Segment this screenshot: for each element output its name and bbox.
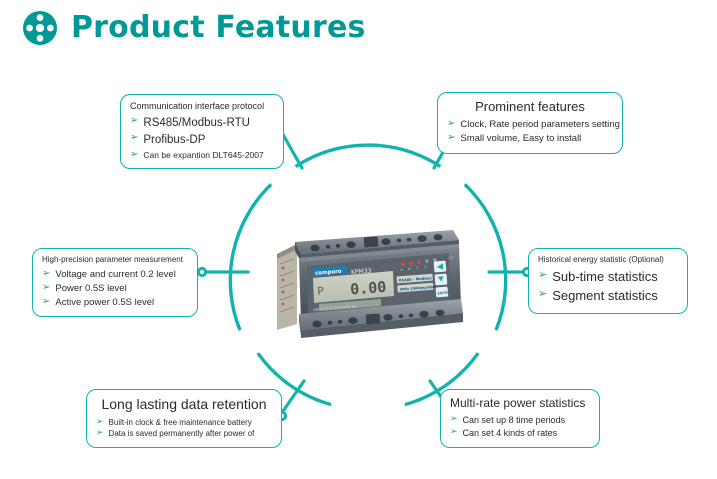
arrow-bullet-icon: ➢ — [96, 429, 104, 438]
arrow-bullet-icon: ➢ — [42, 269, 50, 279]
list-item: ➢ Can set 4 kinds of rates — [450, 427, 590, 440]
list-item-label: Sub-time statistics — [552, 268, 657, 287]
list-item-label: RS485/Modbus-RTU — [143, 115, 250, 132]
list-item-label: Segment statistics — [552, 287, 658, 306]
callout-title: Multi-rate power statistics — [450, 396, 590, 411]
arrow-bullet-icon: ➢ — [130, 116, 138, 126]
callout-communication-interface-protocol[interactable]: Communication interface protocol ➢ RS485… — [120, 94, 284, 169]
page-title: Product Features — [71, 10, 366, 46]
arrow-bullet-icon: ➢ — [538, 269, 547, 280]
list-item-label: Can set up 8 time periods — [463, 414, 566, 427]
callout-list: ➢ RS485/Modbus-RTU ➢ Profibus-DP ➢ Can b… — [130, 115, 274, 161]
list-item-label: Active power 0.5S level — [55, 296, 154, 310]
list-item: ➢ Can be expantion DLT645-2007 — [130, 149, 274, 161]
callout-title: High-precision parameter measurement — [42, 255, 188, 265]
page-header: Product Features — [22, 10, 366, 46]
node-precision — [198, 268, 205, 275]
arrow-bullet-icon: ➢ — [450, 415, 458, 424]
list-item-label: Clock, Rate period parameters setting — [460, 118, 619, 132]
list-item: ➢ Clock, Rate period parameters setting — [447, 118, 613, 132]
list-item-label: Profibus-DP — [143, 132, 205, 149]
svg-text:C: C — [416, 266, 418, 270]
arrow-bullet-icon: ➢ — [130, 133, 138, 143]
callout-prominent-features[interactable]: Prominent features ➢ Clock, Rate period … — [437, 92, 623, 154]
callout-list: ➢ Can set up 8 time periods ➢ Can set 4 … — [450, 414, 590, 440]
callout-list: ➢ Voltage and current 0.2 level ➢ Power … — [42, 268, 188, 309]
callout-long-lasting-data-retention[interactable]: Long lasting data retention ➢ Built-in c… — [86, 389, 282, 448]
svg-text:1/0: 1/0 — [448, 256, 454, 260]
list-item-label: Can be expantion DLT645-2007 — [143, 149, 263, 161]
callout-multi-rate-power-statistics[interactable]: Multi-rate power statistics ➢ Can set up… — [440, 389, 600, 448]
list-item: ➢ Data is saved permanently after power … — [96, 428, 272, 440]
arrow-bullet-icon: ➢ — [130, 150, 138, 160]
arrow-bullet-icon: ➢ — [447, 133, 455, 143]
callout-title: Prominent features — [447, 99, 613, 115]
list-item: ➢ Profibus-DP — [130, 132, 274, 149]
svg-text:P: P — [317, 285, 325, 298]
callout-list: ➢ Clock, Rate period parameters setting … — [447, 118, 613, 146]
list-item-label: Built-in clock & free maintenance batter… — [109, 417, 252, 429]
list-item-label: Voltage and current 0.2 level — [55, 268, 175, 282]
svg-text:B: B — [408, 267, 410, 271]
callout-historical-energy-statistic[interactable]: Historical energy statistic (Optional) ➢… — [528, 248, 688, 314]
list-item-label: Small volume, Easy to install — [460, 132, 581, 146]
svg-text:0.00: 0.00 — [350, 278, 387, 299]
callout-title: Historical energy statistic (Optional) — [538, 255, 678, 265]
arrow-bullet-icon: ➢ — [447, 119, 455, 129]
callout-title: Long lasting data retention — [96, 396, 272, 414]
arrow-bullet-icon: ➢ — [450, 428, 458, 437]
list-item: ➢ RS485/Modbus-RTU — [130, 115, 274, 132]
list-item-label: Data is saved permanently after power of — [109, 428, 255, 440]
list-item: ➢ Sub-time statistics — [538, 268, 678, 287]
callout-high-precision-parameter-measurement[interactable]: High-precision parameter measurement ➢ V… — [32, 248, 198, 317]
list-item: ➢ Small volume, Easy to install — [447, 132, 613, 146]
list-item-label: Power 0.5S level — [55, 282, 126, 296]
list-item: ➢ Segment statistics — [538, 287, 678, 306]
product-image-energy-meter: comporo KPM33 P 0.00 GB/T17215.321-2008 … — [271, 218, 466, 338]
arrow-bullet-icon: ➢ — [42, 283, 50, 293]
arrow-bullet-icon: ➢ — [42, 297, 50, 307]
callout-list: ➢ Built-in clock & free maintenance batt… — [96, 417, 272, 440]
list-item-label: Can set 4 kinds of rates — [463, 427, 558, 440]
list-item: ➢ Active power 0.5S level — [42, 296, 188, 310]
svg-text:⌈⌋: ⌈⌋ — [424, 265, 427, 269]
arrow-bullet-icon: ➢ — [96, 418, 104, 427]
list-item: ➢ Built-in clock & free maintenance batt… — [96, 417, 272, 429]
list-item: ➢ Can set up 8 time periods — [450, 414, 590, 427]
list-item: ➢ Power 0.5S level — [42, 282, 188, 296]
callout-list: ➢ Sub-time statistics ➢ Segment statisti… — [538, 268, 678, 306]
list-item: ➢ Voltage and current 0.2 level — [42, 268, 188, 282]
callout-title: Communication interface protocol — [130, 101, 274, 112]
atom-molecule-icon — [22, 10, 58, 46]
arrow-bullet-icon: ➢ — [538, 288, 547, 299]
product-features-infographic: Product Features — [0, 0, 717, 479]
